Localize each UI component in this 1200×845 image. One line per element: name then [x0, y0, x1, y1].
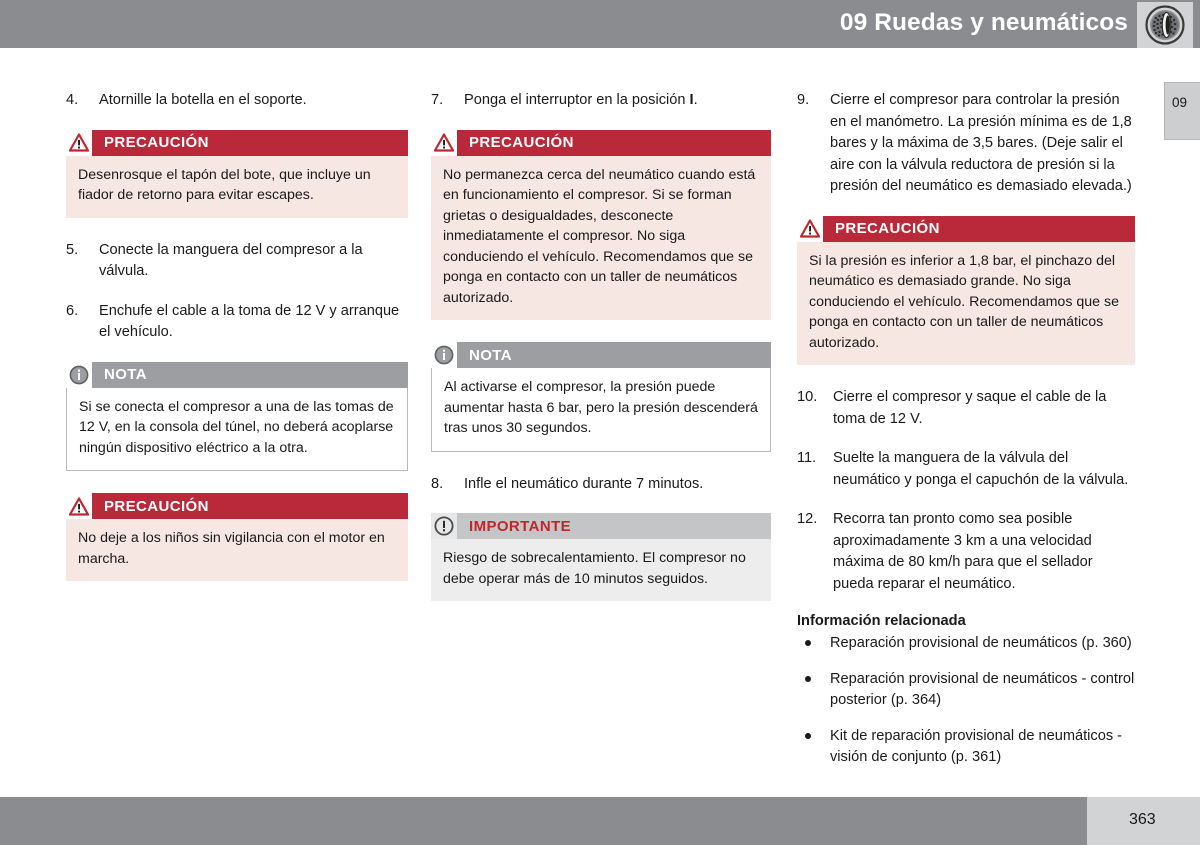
list-item[interactable]: Reparación provisional de neumáticos - c…: [797, 669, 1135, 712]
related-info-heading: Información relacionada: [797, 613, 1135, 629]
callout-label: PRECAUCIÓN: [835, 220, 940, 237]
callout-label: PRECAUCIÓN: [104, 134, 209, 151]
callout-important: IMPORTANTE Riesgo de sobrecalentamiento.…: [431, 513, 771, 601]
content-column-middle: 7. Ponga el interruptor en la posición I…: [431, 90, 771, 623]
callout-label: NOTA: [104, 366, 147, 383]
step-item: 12. Recorra tan pronto como sea posible …: [797, 509, 1135, 595]
callout-caution: PRECAUCIÓN Si la presión es inferior a 1…: [797, 216, 1135, 366]
step-item: 5. Conecte la manguera del compresor a l…: [66, 240, 408, 283]
related-link-text: Kit de reparación provisional de neumáti…: [830, 728, 1122, 766]
step-text-after: .: [694, 92, 698, 108]
callout-note: NOTA Al activarse el compresor, la presi…: [431, 342, 771, 452]
step-text: Conecte la manguera del compresor a la v…: [99, 242, 363, 280]
step-number: 12.: [797, 509, 827, 531]
step-text: Infle el neumático durante 7 minutos.: [464, 476, 703, 492]
callout-caution: PRECAUCIÓN No permanezca cerca del neumá…: [431, 130, 771, 321]
step-text: Suelte la manguera de la válvula del neu…: [833, 450, 1128, 488]
callout-label: PRECAUCIÓN: [469, 134, 574, 151]
callout-header: PRECAUCIÓN: [797, 216, 1135, 242]
chapter-icon-container: [1137, 2, 1193, 48]
related-link-text: Reparación provisional de neumáticos - c…: [830, 671, 1134, 709]
list-item[interactable]: Kit de reparación provisional de neumáti…: [797, 726, 1135, 769]
callout-body: Riesgo de sobrecalentamiento. El compres…: [431, 539, 771, 601]
step-item: 8. Infle el neumático durante 7 minutos.: [431, 474, 771, 496]
step-item: 11. Suelte la manguera de la válvula del…: [797, 448, 1135, 491]
callout-caution: PRECAUCIÓN No deje a los niños sin vigil…: [66, 493, 408, 581]
step-text: Cierre el compresor para controlar la pr…: [830, 92, 1132, 194]
step-item: 4. Atornille la botella en el soporte.: [66, 90, 408, 112]
step-text: Ponga el interruptor en la posición I.: [464, 92, 698, 108]
step-item: 6. Enchufe el cable a la toma de 12 V y …: [66, 301, 408, 344]
page-title: 09 Ruedas y neumáticos: [840, 9, 1128, 37]
list-item[interactable]: Reparación provisional de neumáticos (p.…: [797, 633, 1135, 655]
callout-header: NOTA: [66, 362, 408, 388]
step-number: 7.: [431, 90, 458, 112]
warning-triangle-icon: [66, 493, 92, 519]
content-column-left: 4. Atornille la botella en el soporte. P…: [66, 90, 408, 603]
callout-caution: PRECAUCIÓN Desenrosque el tapón del bote…: [66, 130, 408, 218]
callout-header: PRECAUCIÓN: [66, 493, 408, 519]
bullet-icon: [805, 676, 811, 682]
callout-header: PRECAUCIÓN: [431, 130, 771, 156]
callout-body: No deje a los niños sin vigilancia con e…: [66, 519, 408, 581]
callout-header: NOTA: [431, 342, 771, 368]
callout-header: IMPORTANTE: [431, 513, 771, 539]
callout-label: NOTA: [469, 347, 512, 364]
step-item: 10. Cierre el compresor y saque el cable…: [797, 387, 1135, 430]
callout-note: NOTA Si se conecta el compresor a una de…: [66, 362, 408, 472]
callout-body: Al activarse el compresor, la presión pu…: [431, 368, 771, 452]
bullet-icon: [805, 640, 811, 646]
step-item: 7. Ponga el interruptor en la posición I…: [431, 90, 771, 112]
callout-body: Si se conecta el compresor a una de las …: [66, 388, 408, 472]
step-text-before: Ponga el interruptor en la posición: [464, 92, 690, 108]
tire-icon: [1145, 5, 1185, 45]
page-number: 363: [1129, 811, 1156, 829]
step-text: Recorra tan pronto como sea posible apro…: [833, 511, 1093, 592]
warning-triangle-icon: [431, 130, 457, 156]
callout-body: No permanezca cerca del neumático cuando…: [431, 156, 771, 321]
callout-label: PRECAUCIÓN: [104, 498, 209, 515]
info-circle-icon: [431, 342, 457, 368]
callout-body: Si la presión es inferior a 1,8 bar, el …: [797, 242, 1135, 366]
step-number: 4.: [66, 90, 93, 112]
related-info-list: Reparación provisional de neumáticos (p.…: [797, 633, 1135, 769]
step-text: Enchufe el cable a la toma de 12 V y arr…: [99, 303, 399, 341]
content-column-right: 9. Cierre el compresor para controlar la…: [797, 90, 1135, 783]
warning-triangle-icon: [66, 130, 92, 156]
info-circle-icon: [66, 362, 92, 388]
step-number: 10.: [797, 387, 827, 409]
exclamation-circle-icon: [431, 513, 457, 539]
callout-header: PRECAUCIÓN: [66, 130, 408, 156]
callout-body: Desenrosque el tapón del bote, que inclu…: [66, 156, 408, 218]
bullet-icon: [805, 733, 811, 739]
step-number: 8.: [431, 474, 458, 496]
warning-triangle-icon: [797, 216, 823, 242]
step-number: 11.: [797, 448, 827, 470]
step-number: 6.: [66, 301, 93, 323]
related-link-text: Reparación provisional de neumáticos (p.…: [830, 635, 1132, 651]
callout-label: IMPORTANTE: [469, 518, 571, 535]
step-item: 9. Cierre el compresor para controlar la…: [797, 90, 1135, 198]
step-text: Atornille la botella en el soporte.: [99, 92, 307, 108]
step-number: 5.: [66, 240, 93, 262]
step-text: Cierre el compresor y saque el cable de …: [833, 389, 1106, 427]
chapter-tab-number: 09: [1172, 95, 1187, 110]
page-footer-bar: [0, 797, 1200, 845]
chapter-tab: 09: [1164, 82, 1200, 140]
step-number: 9.: [797, 90, 824, 112]
